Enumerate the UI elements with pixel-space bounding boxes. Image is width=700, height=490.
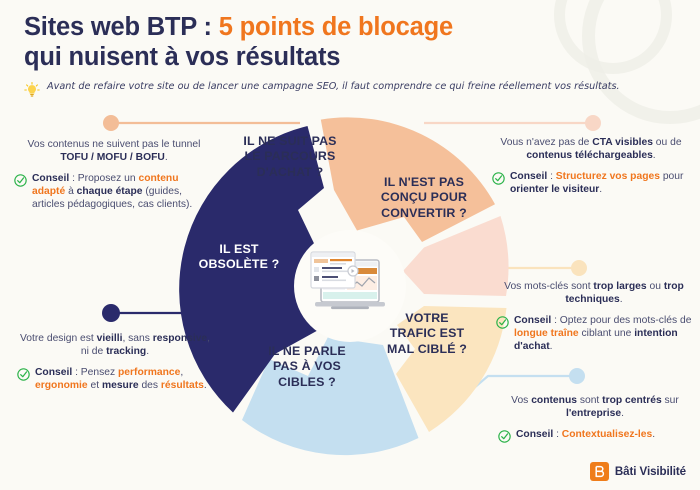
- note-lead: Votre design est vieilli, sans responsiv…: [17, 332, 213, 358]
- note-lead: Vous n'avez pas de CTA visibles ou de co…: [492, 136, 690, 162]
- check-circle-icon: [498, 430, 511, 448]
- note-parcours: Vos contenus ne suivent pas le tunnel TO…: [14, 138, 214, 211]
- logo-mark-icon: [590, 462, 609, 481]
- check-circle-icon: [17, 368, 30, 386]
- note-tip: Conseil : Pensez performance, ergonomie …: [17, 367, 213, 392]
- title-plain: Sites web BTP :: [24, 13, 219, 41]
- note-lead: Vos contenus ne suivent pas le tunnel TO…: [14, 138, 214, 164]
- check-circle-icon: [496, 316, 509, 334]
- note-tip: Conseil : Structurez vos pages pour orie…: [492, 171, 690, 196]
- header: Sites web BTP : 5 points de blocage qui …: [24, 12, 664, 103]
- note-tip-text: Conseil : Optez pour des mots-clés de lo…: [514, 315, 692, 353]
- note-tip-text: Conseil : Contextualisez-les.: [516, 429, 655, 442]
- note-tip-text: Conseil : Pensez performance, ergonomie …: [35, 367, 213, 392]
- note-tip-text: Conseil : Proposez un contenu adapté à c…: [32, 173, 214, 211]
- note-tip-text: Conseil : Structurez vos pages pour orie…: [510, 171, 690, 196]
- note-tip: Conseil : Optez pour des mots-clés de lo…: [496, 315, 692, 353]
- page-title: Sites web BTP : 5 points de blocage qui …: [24, 12, 664, 72]
- note-cibles: Vos contenus sont trop centrés sur l'ent…: [498, 394, 692, 448]
- subtitle-text: Avant de refaire votre site ou de lancer…: [47, 81, 620, 93]
- segment-trafic[interactable]: [396, 306, 507, 432]
- note-lead: Vos contenus sont trop centrés sur l'ent…: [498, 394, 692, 420]
- title-highlight: 5 points de blocage: [219, 13, 453, 41]
- note-lead: Vos mots-clés sont trop larges ou trop t…: [496, 280, 692, 306]
- note-convertir: Vous n'avez pas de CTA visibles ou de co…: [492, 136, 690, 197]
- check-circle-icon: [14, 174, 27, 192]
- note-tip: Conseil : Contextualisez-les.: [498, 429, 692, 448]
- laptop-website-illustration: [303, 238, 397, 332]
- title-line2: qui nuisent à vos résultats: [24, 43, 340, 71]
- note-trafic: Vos mots-clés sont trop larges ou trop t…: [496, 280, 692, 353]
- subtitle-row: Avant de refaire votre site ou de lancer…: [24, 81, 664, 103]
- infographic-root: Sites web BTP : 5 points de blocage qui …: [0, 0, 700, 490]
- segment-parcours[interactable]: [321, 117, 495, 242]
- check-circle-icon: [492, 172, 505, 190]
- logo-text: Bâti Visibilité: [615, 465, 686, 478]
- brand-logo[interactable]: Bâti Visibilité: [590, 462, 686, 481]
- note-tip: Conseil : Proposez un contenu adapté à c…: [14, 173, 214, 211]
- note-obsolete: Votre design est vieilli, sans responsiv…: [17, 332, 213, 393]
- lightbulb-icon: [24, 82, 40, 103]
